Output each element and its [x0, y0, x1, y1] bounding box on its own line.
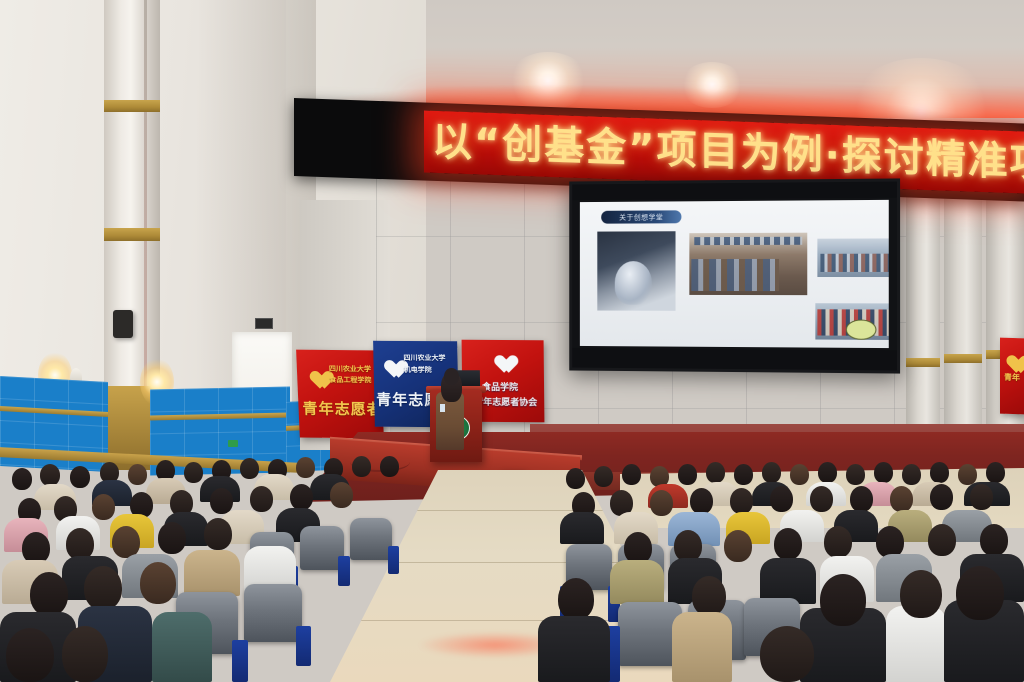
audience-head [762, 462, 781, 483]
audience-head [846, 464, 865, 485]
audience-head [874, 462, 893, 483]
audience-head [250, 486, 273, 512]
audience-head [930, 484, 953, 510]
slide-accent-ellipse [846, 319, 877, 339]
heart-hand-icon [490, 348, 516, 370]
auditorium-seat [350, 518, 392, 560]
slide-title: 关于创想学堂 [601, 210, 681, 223]
heart-icon [1002, 348, 1018, 363]
banner-red-far-right: 青年 [1000, 338, 1024, 415]
banner-line-2: 青年 [1004, 372, 1020, 384]
audience-head [566, 468, 585, 489]
slide-title-text: 关于创想学堂 [619, 212, 663, 222]
audience-head [558, 578, 594, 620]
ceiling-light-icon [508, 52, 588, 110]
slide-photo [817, 238, 888, 277]
audience-head [818, 462, 837, 483]
audience-head [40, 464, 60, 486]
audience-head [158, 522, 186, 554]
audience-head [706, 462, 725, 483]
audience-head [204, 518, 232, 550]
auditorium-seat [244, 584, 302, 642]
audience-head [128, 464, 147, 485]
audience-head [650, 490, 673, 516]
audience-head [12, 468, 32, 490]
audience-head [970, 484, 993, 510]
audience-head [30, 572, 68, 616]
speaker-head [444, 368, 459, 385]
audience-body [610, 560, 664, 604]
slide-surface: 关于创想学堂 [580, 200, 889, 348]
audience-head [380, 456, 399, 477]
audience-head [820, 574, 866, 626]
heart-icon [305, 364, 328, 384]
audience-head [890, 486, 913, 512]
seat-frame [388, 546, 399, 574]
wall-column [104, 0, 160, 398]
banner-line-1: 四川农业大学 [329, 364, 371, 374]
audience-head [824, 526, 852, 558]
slide-photo [689, 233, 807, 295]
screen-bottom-bar [572, 348, 897, 371]
audience-head [622, 464, 641, 485]
audience-head [790, 464, 809, 485]
seat-frame [296, 626, 311, 666]
audience-head [92, 494, 115, 520]
banner-line-1: 四川农业大学 [403, 353, 445, 363]
audience-head [184, 462, 203, 483]
audience-head [850, 486, 873, 512]
ceiling-light-icon [680, 62, 744, 108]
projection-screen: 关于创想学堂 [569, 178, 900, 373]
audience-body [152, 612, 212, 682]
seat-frame [232, 640, 248, 682]
audience-head [734, 464, 753, 485]
audience-head [930, 462, 949, 483]
audience-head [900, 570, 942, 618]
audience-head [140, 562, 176, 604]
audience-head [774, 528, 802, 560]
audience-head [902, 464, 921, 485]
audience-body [672, 612, 732, 682]
audience-head [70, 466, 90, 488]
audience-area [0, 440, 1024, 682]
audience-head [6, 628, 54, 682]
audience-body [538, 616, 610, 682]
audience-head [296, 457, 315, 478]
screen-top-bar [572, 182, 897, 201]
auditorium-photo: 以“创基金”项目为例·探讨精准项目 关于创想学堂 四川农业大学 食品工程学院 青… [0, 0, 1024, 682]
banner-line-3: 青年志愿者协会 [302, 398, 384, 420]
audience-head [986, 462, 1005, 483]
seat-frame [338, 556, 350, 586]
banner-line-2: 食品学院 [482, 380, 518, 393]
banner-line-2: 机电学院 [404, 365, 432, 375]
audience-head [724, 530, 752, 562]
audience-head [352, 456, 371, 477]
slide-photo [597, 231, 675, 311]
audience-head [928, 524, 956, 556]
audience-head [770, 486, 793, 512]
banner-red-left: 四川农业大学 食品工程学院 青年志愿者协会 [296, 350, 384, 439]
audience-head [956, 566, 1004, 620]
audience-head [290, 484, 313, 510]
audience-body [184, 550, 240, 596]
heart-icon [379, 353, 401, 373]
audience-head [692, 576, 726, 616]
speaker-badge [440, 404, 445, 412]
banner-line-2: 食品工程学院 [329, 375, 371, 385]
audience-head [760, 626, 814, 682]
exit-sign-icon [255, 318, 273, 329]
wall-speaker-icon [113, 310, 133, 338]
banner-line-3: 青年志愿者协会 [474, 395, 537, 408]
audience-head [240, 458, 259, 479]
audience-head [678, 464, 697, 485]
audience-head [730, 488, 753, 514]
audience-head [594, 466, 613, 487]
audience-head [62, 626, 108, 682]
audience-head [690, 488, 713, 514]
audience-body [560, 512, 604, 544]
audience-head [980, 524, 1008, 556]
audience-head [810, 486, 833, 512]
audience-head [330, 482, 353, 508]
audience-head [84, 566, 122, 610]
